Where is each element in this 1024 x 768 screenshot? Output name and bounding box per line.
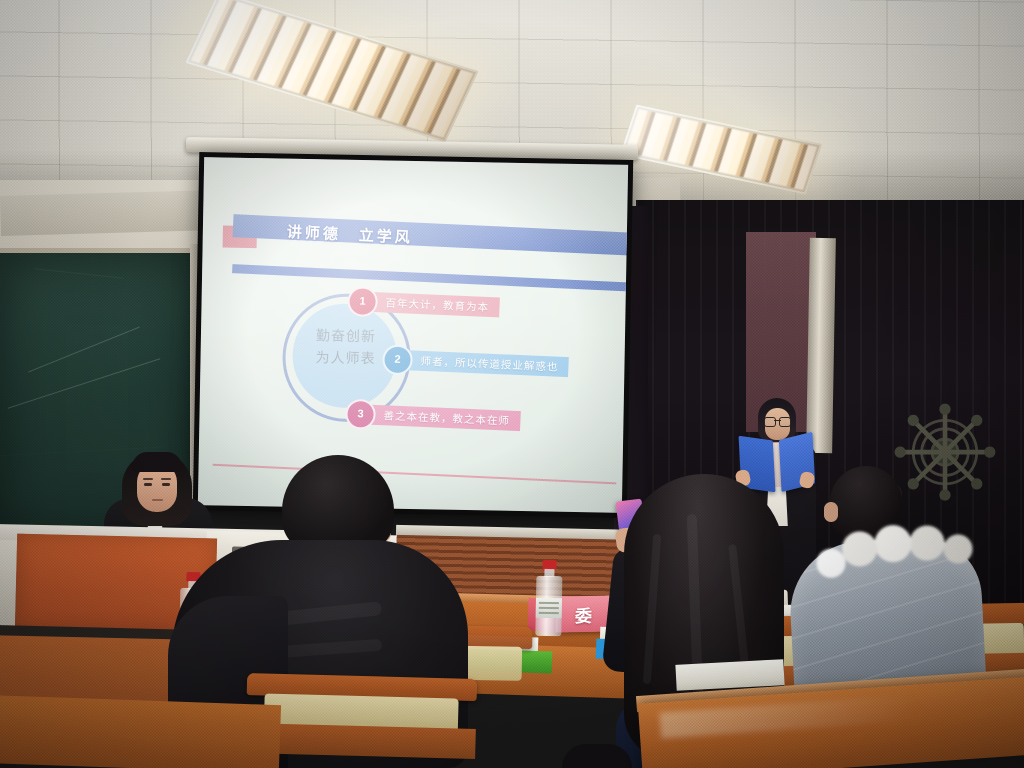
screen-glow — [198, 157, 628, 513]
slide-title: 讲师德 立学风 — [286, 221, 413, 248]
screen-vignette — [198, 157, 628, 513]
audience-fur-hood-ear — [824, 502, 838, 522]
projected-slide: 讲师德 立学风 勤奋创新 为人师表 1 百年大计，教育为本 2 师者，所以传道授… — [198, 157, 628, 513]
front-left-desk — [0, 695, 281, 768]
slide-bullet-1: 1 百年大计，教育为本 — [347, 286, 500, 322]
seated-host-fringe — [132, 452, 182, 472]
wall-pillar — [806, 238, 836, 453]
water-bottle-center — [535, 560, 562, 636]
slide-bullet-3-number: 3 — [345, 399, 376, 430]
slide-bottom-rule — [213, 464, 617, 485]
projector-screen-frame: 讲师德 立学风 勤奋创新 为人师表 1 百年大计，教育为本 2 师者，所以传道授… — [193, 152, 633, 518]
slide-bullet-1-text: 百年大计，教育为本 — [369, 292, 499, 318]
ship-wheel-icon — [886, 398, 1004, 510]
audience-partial-head — [562, 744, 632, 768]
slide-bullet-2-number: 2 — [382, 344, 413, 375]
slide-bullet-2: 2 师者，所以传道授业解惑也 — [382, 344, 569, 382]
slide-bullet-2-text: 师者，所以传道授业解惑也 — [404, 350, 569, 377]
slide-bullet-3-text: 善之本在教，教之本在师 — [367, 405, 520, 432]
glasses-icon — [764, 417, 791, 425]
slide-bullet-3: 3 善之本在教，教之本在师 — [345, 399, 521, 436]
judge-name-card-text: 委 — [575, 601, 594, 626]
classroom-photo: 讲师德 立学风 勤奋创新 为人师表 1 百年大计，教育为本 2 师者，所以传道授… — [0, 0, 1024, 768]
slide-bullet-1-number: 1 — [347, 286, 378, 317]
slide-title-underline — [232, 264, 628, 291]
